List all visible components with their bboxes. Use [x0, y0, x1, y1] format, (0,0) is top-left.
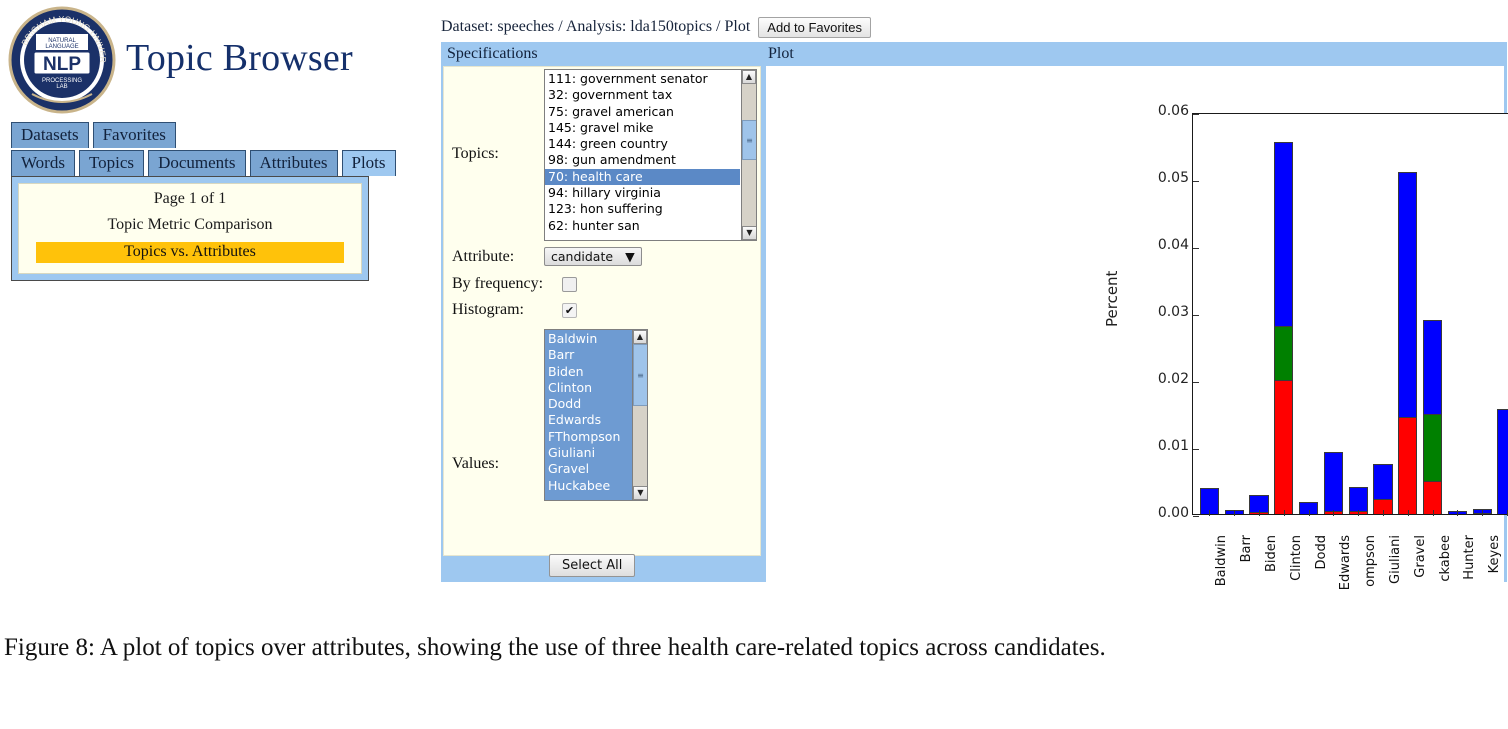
stacked-bar-chart: Percent 0.000.010.020.030.040.050.06 Bal… — [1097, 95, 1508, 605]
x-axis-labels: BaldwinBarrBidenClintonDoddEdwardsompson… — [1192, 535, 1508, 605]
tab-favorites[interactable]: Favorites — [93, 122, 176, 148]
tab-words[interactable]: Words — [11, 150, 75, 176]
values-scrollbar[interactable]: ▲ ≡ ▼ — [632, 330, 647, 500]
x-axis-tick-label: Edwards — [1338, 535, 1353, 590]
bar-group — [1398, 172, 1417, 514]
list-item[interactable]: 111: government senator — [545, 71, 740, 87]
scrollbar-thumb[interactable]: ≡ — [742, 120, 757, 160]
x-axis-tick-label: Giuliani — [1388, 535, 1403, 584]
x-axis-tick-label: Keyes — [1487, 535, 1502, 573]
chevron-down-icon: ▼ — [625, 249, 635, 264]
x-axis-tick-mark — [1433, 510, 1434, 516]
select-all-button[interactable]: Select All — [549, 554, 635, 577]
y-axis-tick-label: 0.06 — [1103, 103, 1189, 119]
byu-nlp-lab-logo-icon: NATURAL LANGUAGE NLP PROCESSING LAB BRIG… — [8, 6, 116, 114]
y-axis-tick-label: 0.03 — [1103, 304, 1189, 320]
tab-topics[interactable]: Topics — [79, 150, 144, 176]
page-indicator: Page 1 of 1 — [154, 190, 226, 208]
list-item[interactable]: 75: gravel american — [545, 104, 740, 120]
list-item-selected[interactable]: Clinton — [545, 380, 631, 396]
list-item[interactable]: 94: hillary virginia — [545, 185, 740, 201]
x-axis-tick-mark — [1284, 510, 1285, 516]
svg-text:NLP: NLP — [43, 54, 81, 75]
topics-scrollbar[interactable]: ▲ ≡ ▼ — [741, 70, 756, 240]
attribute-row: Attribute: candidate ▼ — [452, 247, 642, 266]
list-item-selected[interactable]: Gravel — [545, 461, 631, 477]
y-axis-tick-label: 0.04 — [1103, 237, 1189, 253]
x-axis-tick-mark — [1408, 510, 1409, 516]
y-axis-tick-mark — [1193, 248, 1199, 249]
bar-group — [1497, 409, 1508, 514]
x-axis-tick-label: Biden — [1264, 535, 1279, 572]
bar-group — [1423, 320, 1442, 514]
secondary-tab-row: Words Topics Documents Attributes Plots — [11, 150, 400, 176]
attribute-select[interactable]: candidate ▼ — [544, 247, 642, 266]
y-axis-tick-mark — [1193, 181, 1199, 182]
y-axis-tick-label: 0.00 — [1103, 505, 1189, 521]
bar-segment — [1373, 464, 1392, 499]
y-axis-tick-label: 0.01 — [1103, 438, 1189, 454]
attribute-select-value: candidate — [551, 249, 613, 264]
plot-frame — [1192, 113, 1508, 515]
x-axis-tick-label: Dodd — [1314, 535, 1329, 569]
breadcrumb: Dataset: speeches / Analysis: lda150topi… — [441, 14, 871, 40]
by-frequency-label: By frequency: — [452, 275, 562, 293]
x-axis-tick-mark — [1383, 510, 1384, 516]
primary-tab-row: Datasets Favorites — [11, 122, 180, 148]
scroll-down-icon[interactable]: ▼ — [742, 226, 757, 240]
chart-axes — [1192, 95, 1508, 515]
y-axis-tick-mark — [1193, 114, 1199, 115]
list-item-selected[interactable]: Biden — [545, 364, 631, 380]
breadcrumb-text: Dataset: speeches / Analysis: lda150topi… — [441, 18, 750, 36]
tab-documents[interactable]: Documents — [148, 150, 245, 176]
scroll-down-icon[interactable]: ▼ — [633, 486, 648, 500]
x-axis-tick-mark — [1482, 510, 1483, 516]
bar-segment — [1349, 487, 1368, 510]
list-item-selected[interactable]: 70: health care — [545, 169, 740, 185]
values-field-label-row: Values: — [452, 455, 499, 473]
list-item[interactable]: 62: hunter san — [545, 218, 740, 234]
bar-segment — [1324, 452, 1343, 512]
scrollbar-thumb[interactable]: ≡ — [633, 344, 648, 406]
bar-group — [1324, 452, 1343, 514]
y-axis-ticks: 0.000.010.020.030.040.050.06 — [1097, 95, 1189, 605]
bar-segment — [1423, 414, 1442, 481]
tab-plots[interactable]: Plots — [342, 150, 396, 176]
x-axis-tick-mark — [1309, 510, 1310, 516]
topics-listbox[interactable]: 111: government senator 32: government t… — [544, 69, 757, 241]
y-axis-tick-mark — [1193, 449, 1199, 450]
panel-container: Specifications Plot Topics: 111: governm… — [441, 42, 1507, 582]
tab-datasets[interactable]: Datasets — [11, 122, 89, 148]
y-axis-tick-label: 0.02 — [1103, 371, 1189, 387]
list-item[interactable]: 145: gravel mike — [545, 120, 740, 136]
page-title: Topic Browser — [126, 36, 353, 80]
x-axis-tick-label: Clinton — [1289, 535, 1304, 581]
y-axis-tick-mark — [1193, 315, 1199, 316]
x-axis-tick-mark — [1234, 510, 1235, 516]
topics-field-label-row: Topics: — [452, 145, 499, 163]
specifications-form: Topics: 111: government senator 32: gove… — [443, 66, 761, 556]
list-item-selected[interactable]: Dodd — [545, 396, 631, 412]
list-item-selected[interactable]: Huckabee — [545, 478, 631, 494]
bar-segment — [1423, 481, 1442, 515]
bar-segment — [1274, 380, 1293, 514]
bar-group — [1373, 464, 1392, 514]
bar-segment — [1398, 172, 1417, 417]
plots-item-topics-vs-attributes[interactable]: Topics vs. Attributes — [36, 242, 344, 263]
y-axis-tick-label: 0.05 — [1103, 170, 1189, 186]
y-axis-tick-mark — [1193, 382, 1199, 383]
x-axis-tick-label: Hunter — [1462, 535, 1477, 580]
x-axis-tick-mark — [1333, 510, 1334, 516]
attribute-label: Attribute: — [452, 248, 544, 266]
x-axis-tick-label: ckabee — [1438, 535, 1453, 582]
x-axis-tick-mark — [1209, 510, 1210, 516]
svg-text:LAB: LAB — [56, 84, 67, 90]
y-axis-tick-mark — [1193, 516, 1199, 517]
x-axis-tick-mark — [1358, 510, 1359, 516]
plot-canvas: Percent 0.000.010.020.030.040.050.06 Bal… — [766, 66, 1504, 584]
values-label: Values: — [452, 455, 499, 473]
bar-segment — [1497, 409, 1508, 514]
histogram-checkbox[interactable]: ✔ — [562, 303, 577, 318]
histogram-row: Histogram: ✔ — [452, 301, 577, 319]
bar-segment — [1398, 417, 1417, 514]
list-item-selected[interactable]: Edwards — [545, 412, 631, 428]
bar-segment — [1274, 142, 1293, 326]
list-item[interactable]: 32: government tax — [545, 87, 740, 103]
bar-segment — [1423, 320, 1442, 413]
topics-label: Topics: — [452, 145, 499, 163]
bar-group — [1274, 142, 1293, 514]
list-item-selected[interactable]: Baldwin — [545, 331, 631, 347]
list-item[interactable]: 98: gun amendment — [545, 152, 740, 168]
tab-attributes[interactable]: Attributes — [250, 150, 338, 176]
x-axis-tick-label: Barr — [1239, 535, 1254, 562]
plots-tab-panel: Page 1 of 1 Topic Metric Comparison Topi… — [11, 176, 369, 281]
plots-section-title: Topic Metric Comparison — [107, 216, 272, 234]
specifications-header: Specifications — [447, 45, 538, 63]
x-axis-tick-label: ompson — [1363, 535, 1378, 587]
by-frequency-row: By frequency: — [452, 275, 577, 293]
x-axis-tick-mark — [1457, 510, 1458, 516]
histogram-label: Histogram: — [452, 301, 562, 319]
svg-text:LANGUAGE: LANGUAGE — [45, 44, 78, 50]
list-item-selected[interactable]: Giuliani — [545, 445, 631, 461]
list-item[interactable]: 123: hon suffering — [545, 201, 740, 217]
scroll-up-icon[interactable]: ▲ — [633, 330, 647, 344]
plot-header: Plot — [768, 45, 794, 63]
bar-segment — [1274, 326, 1293, 380]
list-item-selected[interactable]: Barr — [545, 347, 631, 363]
by-frequency-checkbox[interactable] — [562, 277, 577, 292]
x-axis-tick-label: Gravel — [1413, 535, 1428, 578]
figure-caption: Figure 8: A plot of topics over attribut… — [4, 632, 1504, 664]
list-item-selected[interactable]: FThompson — [545, 429, 631, 445]
branding-panel: NATURAL LANGUAGE NLP PROCESSING LAB BRIG… — [0, 0, 420, 300]
x-axis-tick-label: Baldwin — [1214, 535, 1229, 586]
x-axis-tick-mark — [1259, 510, 1260, 516]
add-to-favorites-button[interactable]: Add to Favorites — [758, 17, 871, 38]
scroll-up-icon[interactable]: ▲ — [742, 70, 756, 84]
main-app-panel: Dataset: speeches / Analysis: lda150topi… — [441, 14, 1507, 582]
values-listbox[interactable]: Baldwin Barr Biden Clinton Dodd Edwards … — [544, 329, 648, 501]
list-item[interactable]: 144: green country — [545, 136, 740, 152]
